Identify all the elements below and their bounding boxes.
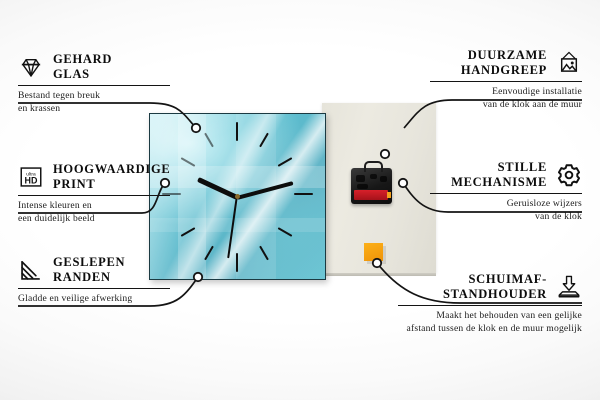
feature-title-line2: GLAS (53, 67, 90, 81)
feature-desc-line1: Maakt het behouden van een gelijke (436, 310, 582, 321)
feature-title-line1: GEHARD (53, 52, 112, 66)
picture-frame-icon (556, 50, 582, 76)
feature-desc-line1: Bestand tegen breuk (18, 90, 100, 101)
feature-title-line1: GESLEPEN (53, 255, 125, 269)
glass-seam-horizontal-2 (150, 218, 325, 232)
feature-title-line2: HANDGREEP (461, 63, 547, 77)
gear-icon (556, 162, 582, 188)
feature-title: STILLE MECHANISME (451, 160, 547, 190)
clock-mechanism (351, 168, 392, 204)
feature-rule (430, 193, 582, 194)
clock-tick-6 (236, 253, 238, 272)
ultra-hd-icon: ultra HD (18, 164, 44, 190)
feature-rule (18, 85, 170, 86)
feature-title: GESLEPEN RANDEN (53, 255, 125, 285)
feature-rule (18, 288, 170, 289)
feature-description: Gladde en veilige afwerking (18, 293, 170, 306)
diamond-icon (18, 54, 44, 80)
feature-rule (18, 195, 170, 196)
wall-clock (149, 113, 326, 280)
feature-gehard-glas: GEHARD GLAS Bestand tegen breuk en krass… (18, 52, 170, 116)
svg-text:HD: HD (25, 175, 38, 185)
feature-desc-line2: van de klok (535, 211, 582, 222)
feature-hoogwaardige-print: ultra HD HOOGWAARDIGE PRINT Intense kleu… (18, 162, 170, 226)
feature-stille-mechanisme: STILLE MECHANISME Geruisloze wijzers van… (430, 160, 582, 224)
feature-desc-line2: van de klok aan de muur (483, 99, 582, 110)
feature-header: GESLEPEN RANDEN (18, 255, 170, 285)
clock-center-cap (235, 194, 240, 199)
feature-title-line2: RANDEN (53, 270, 111, 284)
feature-rule (430, 81, 582, 82)
feature-title-line1: SCHUIMAF- (468, 272, 547, 286)
battery (354, 190, 388, 200)
glass-seam-vertical-1 (178, 114, 206, 279)
clock-tick-3 (294, 193, 313, 195)
feature-title: SCHUIMAF- STANDHOUDER (443, 272, 547, 302)
infographic-canvas: GEHARD GLAS Bestand tegen breuk en krass… (0, 0, 600, 400)
feature-desc-line1: Intense kleuren en (18, 200, 92, 211)
feature-title-line2: STANDHOUDER (443, 287, 547, 301)
feature-title-line2: MECHANISME (451, 175, 547, 189)
feature-desc-line1: Gladde en veilige afwerking (18, 293, 132, 304)
feature-header: STILLE MECHANISME (430, 160, 582, 190)
clock-tick-12 (236, 122, 238, 141)
feature-header: DUURZAME HANDGREEP (430, 48, 582, 78)
bevelled-edges-icon (18, 257, 44, 283)
feature-description: Geruisloze wijzers van de klok (430, 198, 582, 224)
foam-spacer (364, 243, 383, 261)
mechanism-detail-4 (357, 184, 368, 189)
feature-duurzame-handgreep: DUURZAME HANDGREEP Eenvoudige installati… (430, 48, 582, 112)
feature-title-line1: HOOGWAARDIGE (53, 162, 170, 176)
hanger-loop (364, 161, 383, 172)
spacer-stamp-icon (556, 274, 582, 300)
feature-title: DUURZAME HANDGREEP (461, 48, 547, 78)
feature-desc-line2: afstand tussen de klok en de muur mogeli… (407, 323, 582, 334)
glass-seam-horizontal-1 (150, 166, 325, 188)
feature-desc-line2: en krassen (18, 103, 60, 114)
feature-header: SCHUIMAF- STANDHOUDER (398, 272, 582, 302)
feature-header: ultra HD HOOGWAARDIGE PRINT (18, 162, 170, 192)
mechanism-detail-3 (380, 176, 387, 182)
feature-desc-line1: Eenvoudige installatie (492, 86, 582, 97)
feature-title-line1: STILLE (498, 160, 547, 174)
feature-title: GEHARD GLAS (53, 52, 112, 82)
feature-rule (398, 305, 582, 306)
mechanism-detail-1 (356, 175, 365, 182)
feature-title: HOOGWAARDIGE PRINT (53, 162, 170, 192)
feature-description: Intense kleuren en een duidelijk beeld (18, 200, 170, 226)
feature-description: Maakt het behouden van een gelijke afsta… (398, 310, 582, 336)
mechanism-detail-2 (370, 174, 377, 179)
feature-desc-line1: Geruisloze wijzers (507, 198, 582, 209)
feature-schuimafstandhouder: SCHUIMAF- STANDHOUDER Maakt het behouden… (398, 272, 582, 336)
feature-desc-line2: een duidelijk beeld (18, 213, 95, 224)
feature-description: Eenvoudige installatie van de klok aan d… (430, 86, 582, 112)
feature-title-line2: PRINT (53, 177, 95, 191)
feature-geslepen-randen: GESLEPEN RANDEN Gladde en veilige afwerk… (18, 255, 170, 306)
feature-header: GEHARD GLAS (18, 52, 170, 82)
feature-title-line1: DUURZAME (468, 48, 547, 62)
feature-description: Bestand tegen breuk en krassen (18, 90, 170, 116)
